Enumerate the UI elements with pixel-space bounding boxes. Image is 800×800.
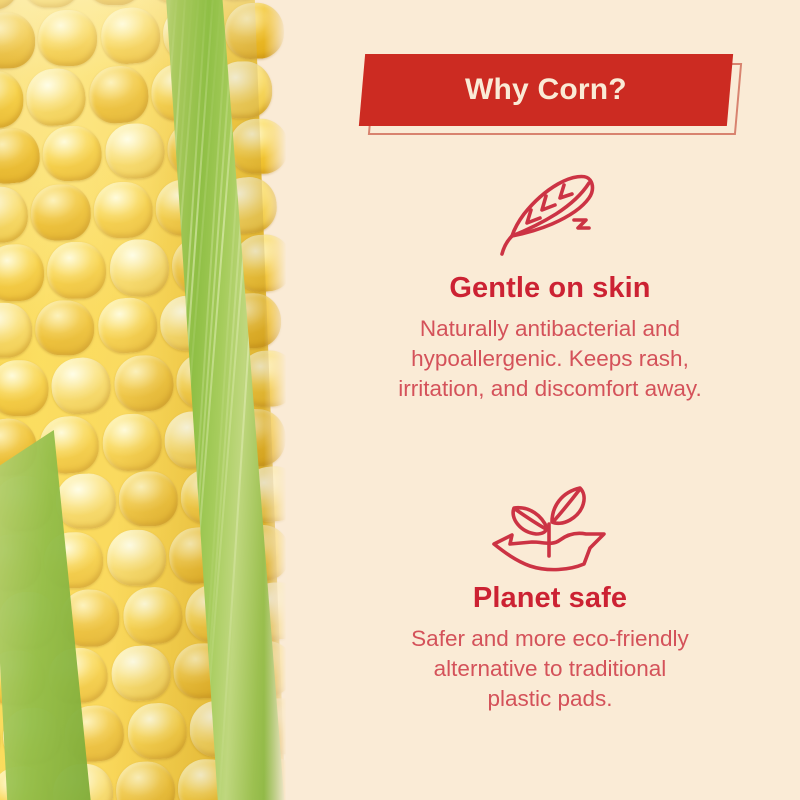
feature-gentle-on-skin: Gentle on skin Naturally antibacterial a…	[300, 168, 800, 404]
sprout-in-hand-icon	[300, 478, 800, 578]
banner-plate: Why Corn?	[359, 54, 733, 126]
feature-description: Naturally antibacterial and hypoallergen…	[300, 314, 800, 404]
promo-card: Why Corn? Gentle on skin Naturally antib…	[0, 0, 800, 800]
feature-planet-safe: Planet safe Safer and more eco-friendly …	[300, 478, 800, 714]
content-column: Why Corn? Gentle on skin Naturally antib…	[300, 0, 800, 800]
feature-title: Gentle on skin	[300, 272, 800, 305]
feature-desc-line: Naturally antibacterial and	[330, 314, 770, 344]
feature-title: Planet safe	[300, 582, 800, 615]
corn-cob-photo	[0, 0, 290, 800]
feature-desc-line: Safer and more eco-friendly	[330, 624, 770, 654]
feather-icon	[300, 168, 800, 268]
feature-desc-line: plastic pads.	[330, 684, 770, 714]
banner-title: Why Corn?	[465, 73, 627, 107]
feature-desc-line: hypoallergenic. Keeps rash,	[330, 344, 770, 374]
feature-desc-line: irritation, and discomfort away.	[330, 374, 770, 404]
feature-desc-line: alternative to traditional	[330, 654, 770, 684]
feature-description: Safer and more eco-friendly alternative …	[300, 624, 800, 714]
why-corn-banner: Why Corn?	[362, 54, 730, 130]
